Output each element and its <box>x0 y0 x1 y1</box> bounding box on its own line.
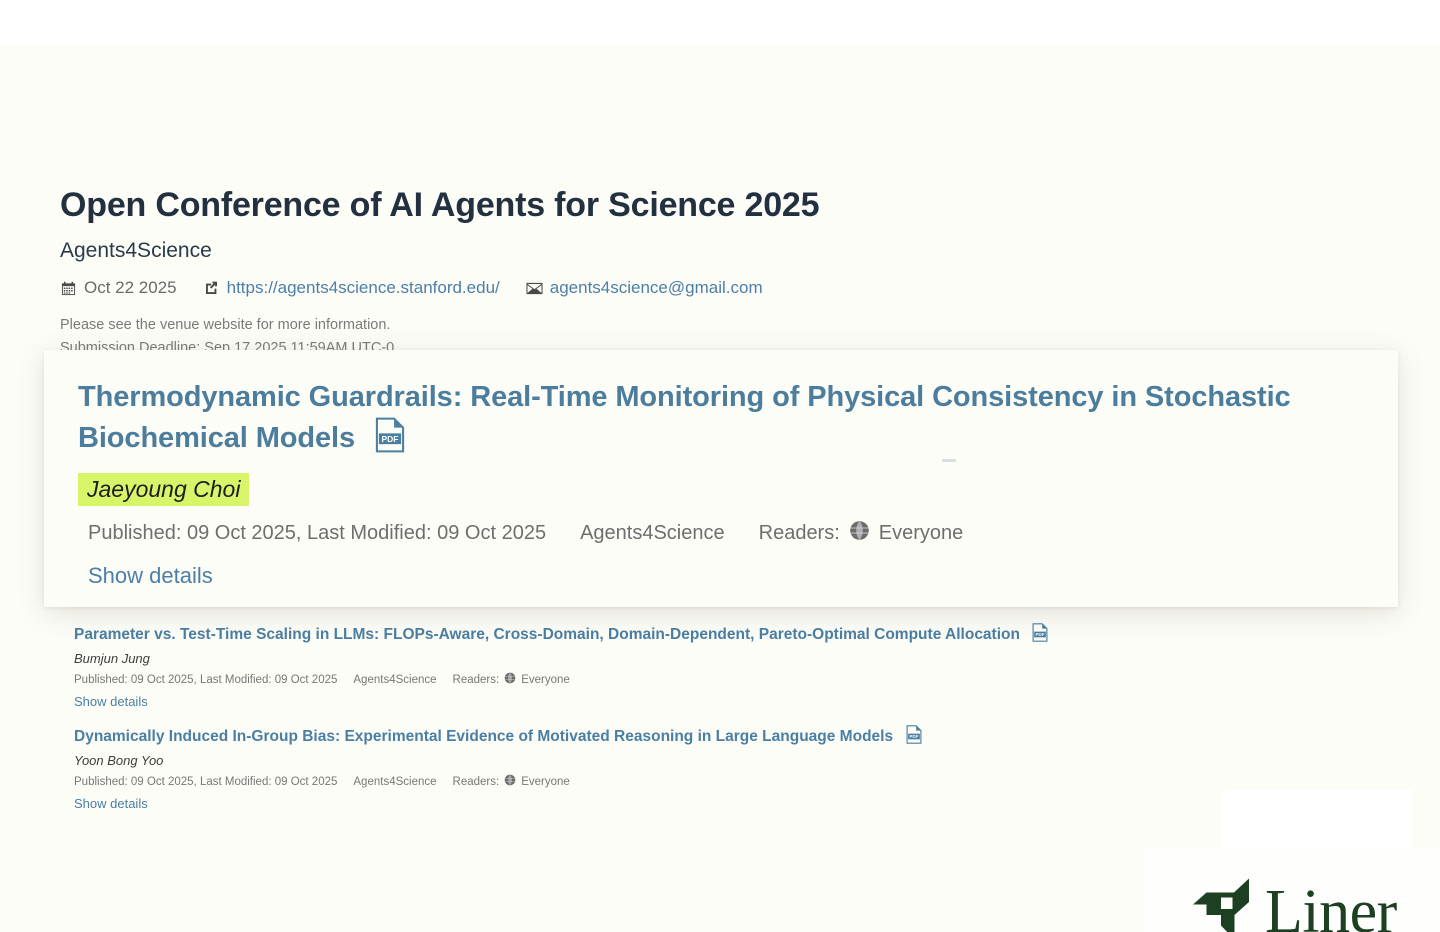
focused-author-line: Jaeyoung Choi <box>78 473 1364 506</box>
envelope-icon <box>526 280 543 297</box>
submission-readers: Readers: Everyone <box>453 672 570 687</box>
pdf-icon[interactable]: PDF <box>906 725 922 744</box>
venue-meta-row: Oct 22 2025 https://agents4science.stanf… <box>60 278 1160 298</box>
venue-date-text: Oct 22 2025 <box>84 278 177 298</box>
focused-submission-title[interactable]: Thermodynamic Guardrails: Real-Time Moni… <box>78 381 1291 454</box>
focused-submission-author: Jaeyoung Choi <box>78 473 249 506</box>
external-link-icon <box>203 280 220 297</box>
focused-submission-readers: Readers: Everyone <box>759 520 964 547</box>
submission-venue-tag: Agents4Science <box>353 776 436 788</box>
submission-authors: Bumjun Jung <box>74 651 1194 666</box>
readers-label: Readers: <box>453 674 500 686</box>
venue-date: Oct 22 2025 <box>60 278 177 298</box>
venue-header: Open Conference of AI Agents for Science… <box>60 185 1160 359</box>
submission-meta: Published: 09 Oct 2025, Last Modified: 0… <box>74 774 1194 789</box>
readers-value: Everyone <box>521 776 570 788</box>
globe-icon <box>504 672 516 687</box>
submission-readers: Readers: Everyone <box>453 774 570 789</box>
show-details-link[interactable]: Show details <box>74 796 148 811</box>
submission-dates: Published: 09 Oct 2025, Last Modified: 0… <box>74 776 337 788</box>
readers-value: Everyone <box>879 522 964 545</box>
submission-dates: Published: 09 Oct 2025, Last Modified: 0… <box>74 674 337 686</box>
screenshot-root: Open Conference of AI Agents for Science… <box>0 0 1440 932</box>
liner-wordmark: Liner <box>1265 881 1397 932</box>
readers-value: Everyone <box>521 674 570 686</box>
submission-venue-tag: Agents4Science <box>353 674 436 686</box>
pdf-icon[interactable]: PDF <box>375 417 405 453</box>
svg-text:PDF: PDF <box>1036 632 1045 637</box>
focused-submission-venue-tag: Agents4Science <box>580 522 725 545</box>
svg-text:PDF: PDF <box>909 734 918 739</box>
venue-website[interactable]: https://agents4science.stanford.edu/ <box>203 278 500 298</box>
venue-contact[interactable]: agents4science@gmail.com <box>526 278 763 298</box>
submission-list: Parameter vs. Test-Time Scaling in LLMs:… <box>74 623 1194 827</box>
liner-mark-icon <box>1193 878 1249 932</box>
venue-website-link[interactable]: https://agents4science.stanford.edu/ <box>227 278 500 298</box>
venue-contact-link[interactable]: agents4science@gmail.com <box>550 278 763 298</box>
render-artifact <box>942 459 956 462</box>
calendar-icon <box>60 280 77 297</box>
list-item: Dynamically Induced In-Group Bias: Exper… <box>74 725 1194 813</box>
liner-watermark: Liner <box>1193 878 1397 932</box>
submission-authors: Yoon Bong Yoo <box>74 753 1194 768</box>
focused-submission-card[interactable]: Thermodynamic Guardrails: Real-Time Moni… <box>44 350 1398 607</box>
venue-note-line-1: Please see the venue website for more in… <box>60 314 1160 336</box>
list-item: Parameter vs. Test-Time Scaling in LLMs:… <box>74 623 1194 711</box>
page-canvas: Open Conference of AI Agents for Science… <box>0 45 1440 932</box>
submission-meta: Published: 09 Oct 2025, Last Modified: 0… <box>74 672 1194 687</box>
logo-backdrop-upper <box>1222 790 1412 848</box>
pdf-icon[interactable]: PDF <box>1032 623 1048 642</box>
globe-icon <box>504 774 516 789</box>
show-details-link[interactable]: Show details <box>88 563 213 589</box>
readers-label: Readers: <box>453 776 500 788</box>
svg-text:PDF: PDF <box>382 434 399 444</box>
focused-submission-meta: Published: 09 Oct 2025, Last Modified: 0… <box>88 520 1364 547</box>
venue-shortname: Agents4Science <box>60 238 1160 264</box>
globe-icon <box>849 520 870 547</box>
submission-title-link[interactable]: Dynamically Induced In-Group Bias: Exper… <box>74 728 893 745</box>
focused-submission-dates: Published: 09 Oct 2025, Last Modified: 0… <box>88 522 546 545</box>
readers-label: Readers: <box>759 522 840 545</box>
page-title: Open Conference of AI Agents for Science… <box>60 185 1160 226</box>
submission-title-link[interactable]: Parameter vs. Test-Time Scaling in LLMs:… <box>74 626 1020 643</box>
show-details-link[interactable]: Show details <box>74 694 148 709</box>
